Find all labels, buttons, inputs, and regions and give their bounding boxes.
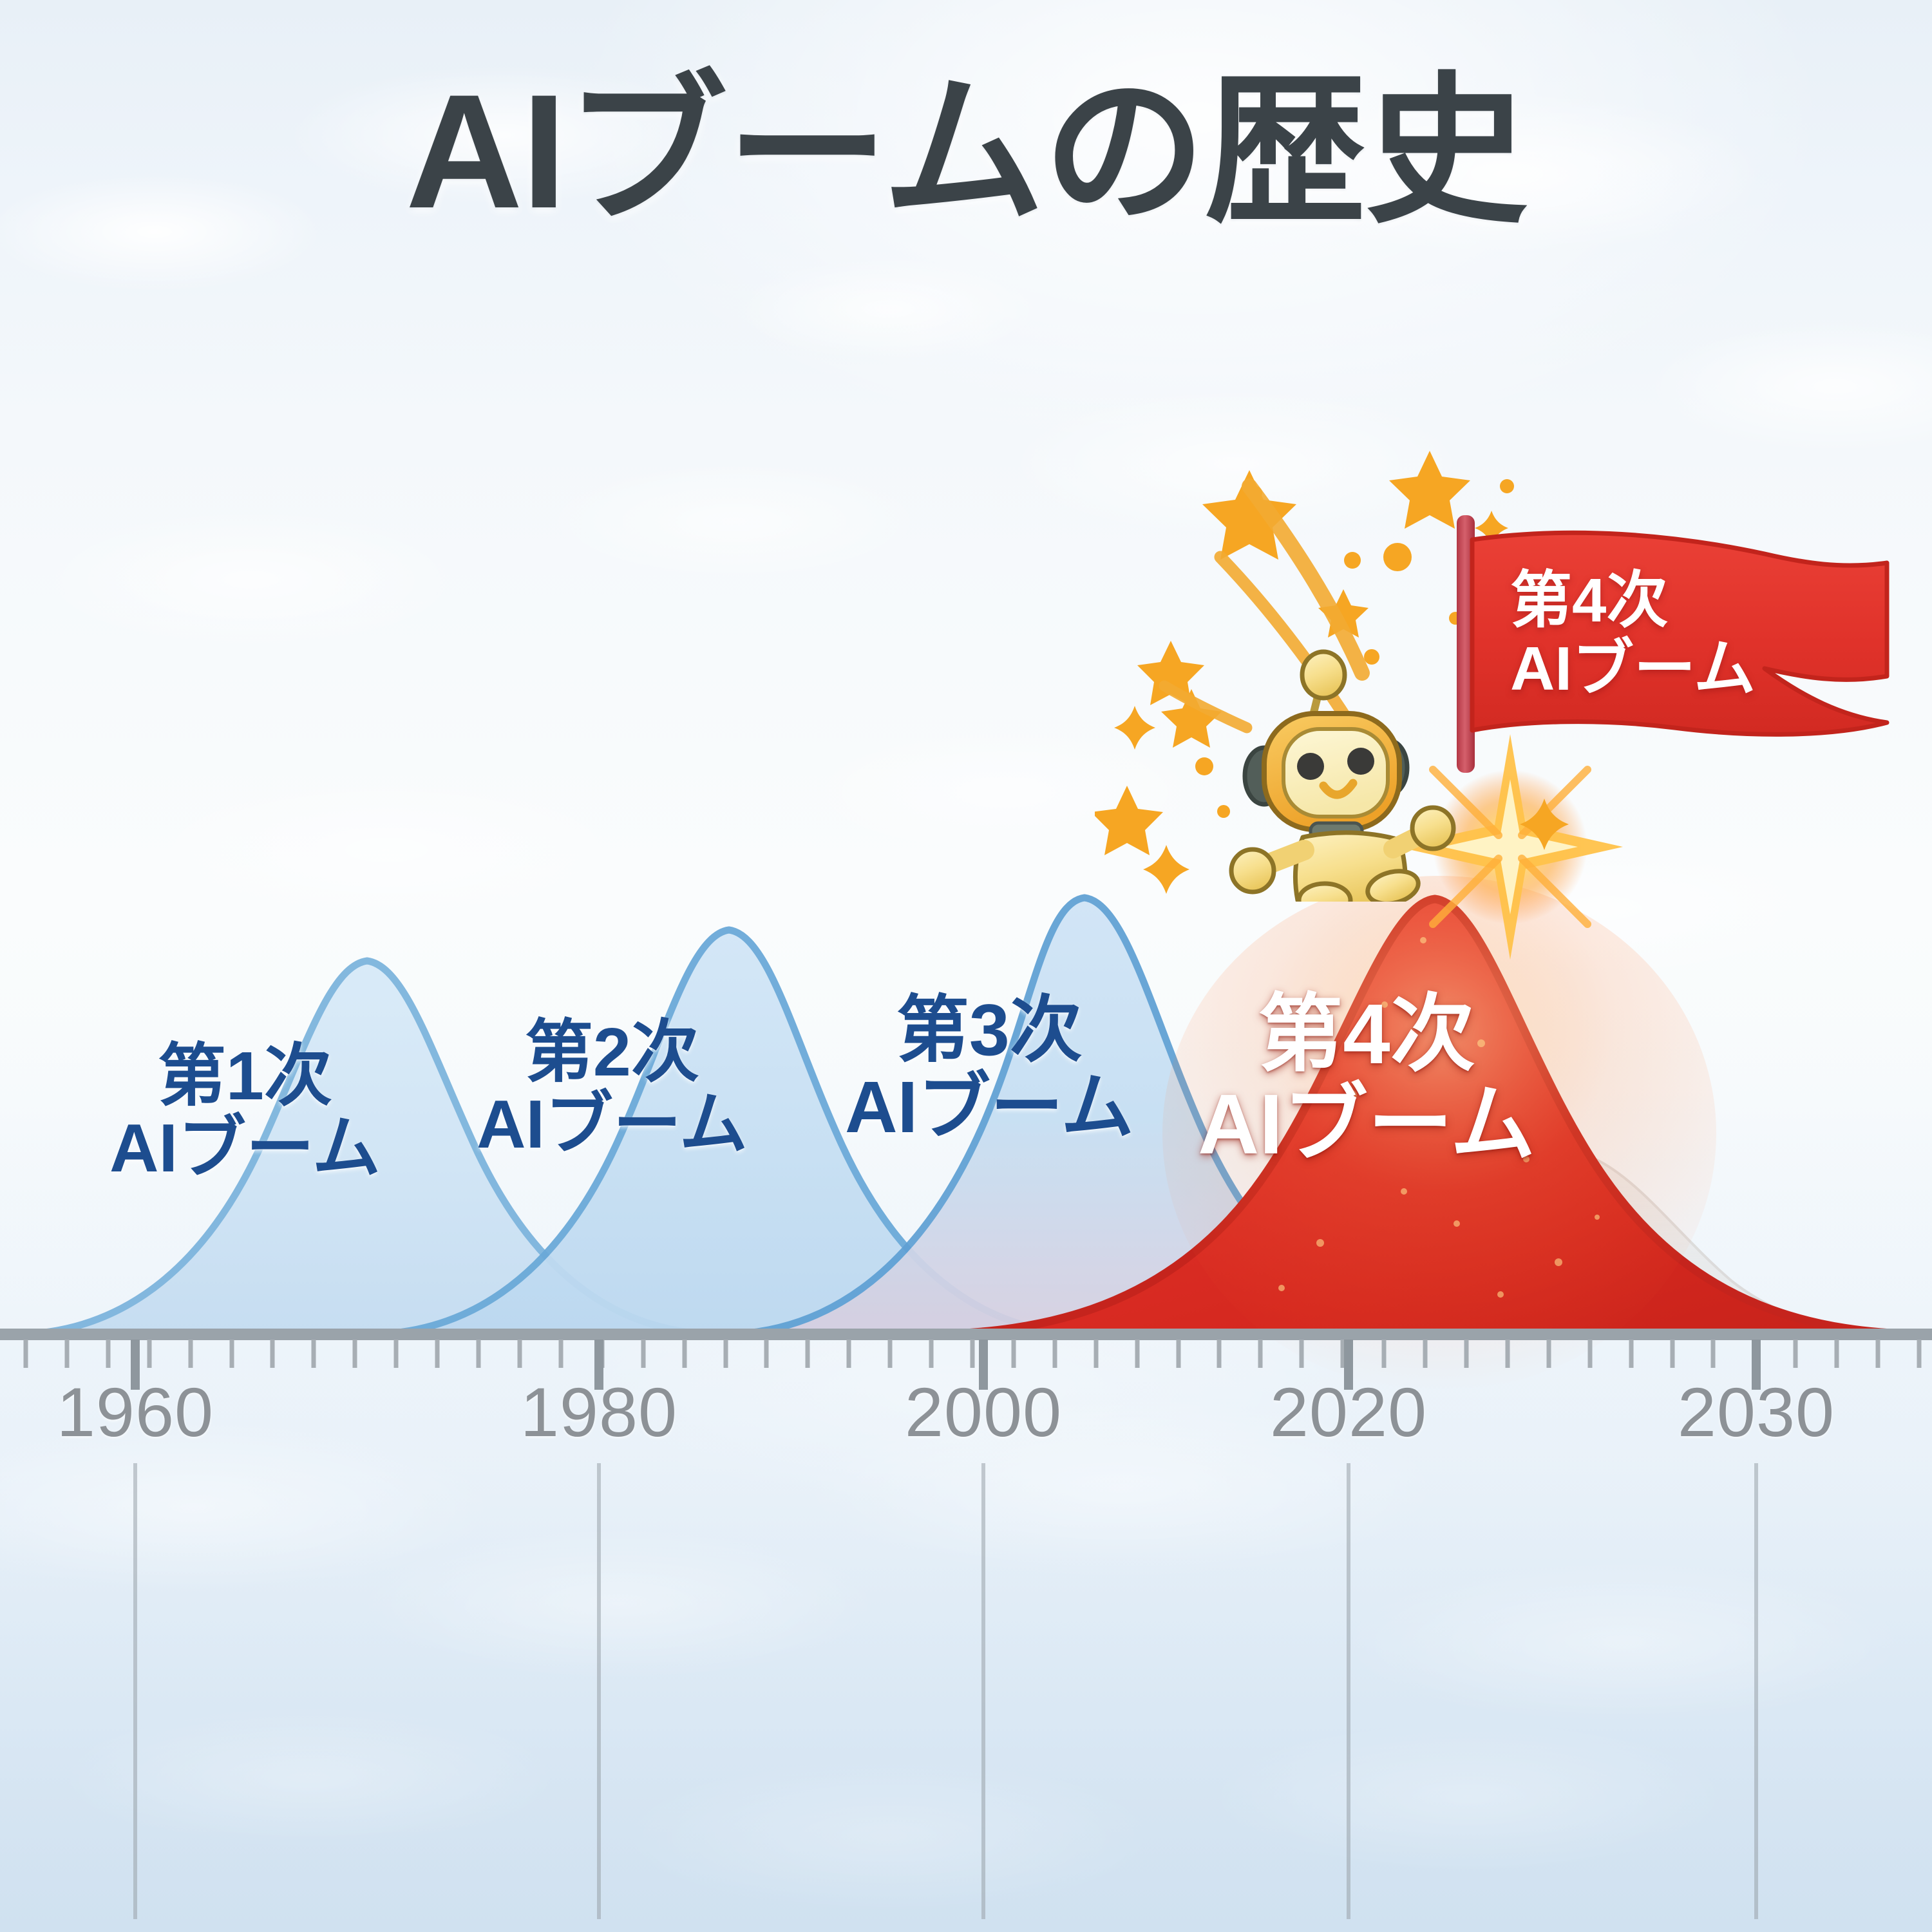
page-title: AIブームの歴史	[0, 71, 1932, 233]
ai-boom-area-chart	[0, 0, 1932, 1932]
curve-label-boom2-line2: AIブーム	[477, 1088, 748, 1160]
curve-label-boom1-line1: 第1次	[109, 1040, 381, 1112]
curve-label-boom3-line2: AIブーム	[845, 1069, 1134, 1146]
curve-label-boom2-line1: 第2次	[477, 1016, 748, 1088]
curve-label-boom1-line2: AIブーム	[109, 1112, 381, 1184]
flag-label-line1: 第4次	[1510, 567, 1806, 635]
robot-mascot	[1227, 644, 1472, 902]
robot-leg-left	[1299, 884, 1350, 902]
axis-drop-gridlines	[135, 1463, 1756, 1919]
robot-hand-left	[1231, 849, 1274, 892]
axis-year-label: 2030	[1678, 1372, 1835, 1452]
robot-antenna-bulb	[1302, 652, 1345, 698]
curve-label-boom4: 第4次 AIブーム	[1198, 989, 1535, 1170]
axis-minor-ticks	[26, 1340, 1919, 1368]
robot-eye-right	[1347, 748, 1374, 775]
robot-eye-left	[1297, 753, 1324, 780]
curve-label-boom4-line2: AIブーム	[1198, 1079, 1535, 1170]
curve-label-boom2: 第2次 AIブーム	[477, 1016, 748, 1161]
curve-label-boom3-line1: 第3次	[845, 992, 1134, 1069]
flag-label: 第4次 AIブーム	[1510, 567, 1806, 703]
curve-label-boom1: 第1次 AIブーム	[109, 1040, 381, 1185]
infographic-canvas: AIブームの歴史	[0, 0, 1932, 1932]
axis-year-label: 2020	[1270, 1372, 1427, 1452]
curve-label-boom3: 第3次 AIブーム	[845, 992, 1134, 1146]
robot-hand-right	[1412, 808, 1454, 849]
curve-label-boom4-line1: 第4次	[1198, 989, 1535, 1079]
flag-label-line2: AIブーム	[1510, 635, 1806, 703]
axis-year-label: 2000	[905, 1372, 1062, 1452]
axis-year-label: 1980	[520, 1372, 677, 1452]
axis-year-label: 1960	[57, 1372, 214, 1452]
